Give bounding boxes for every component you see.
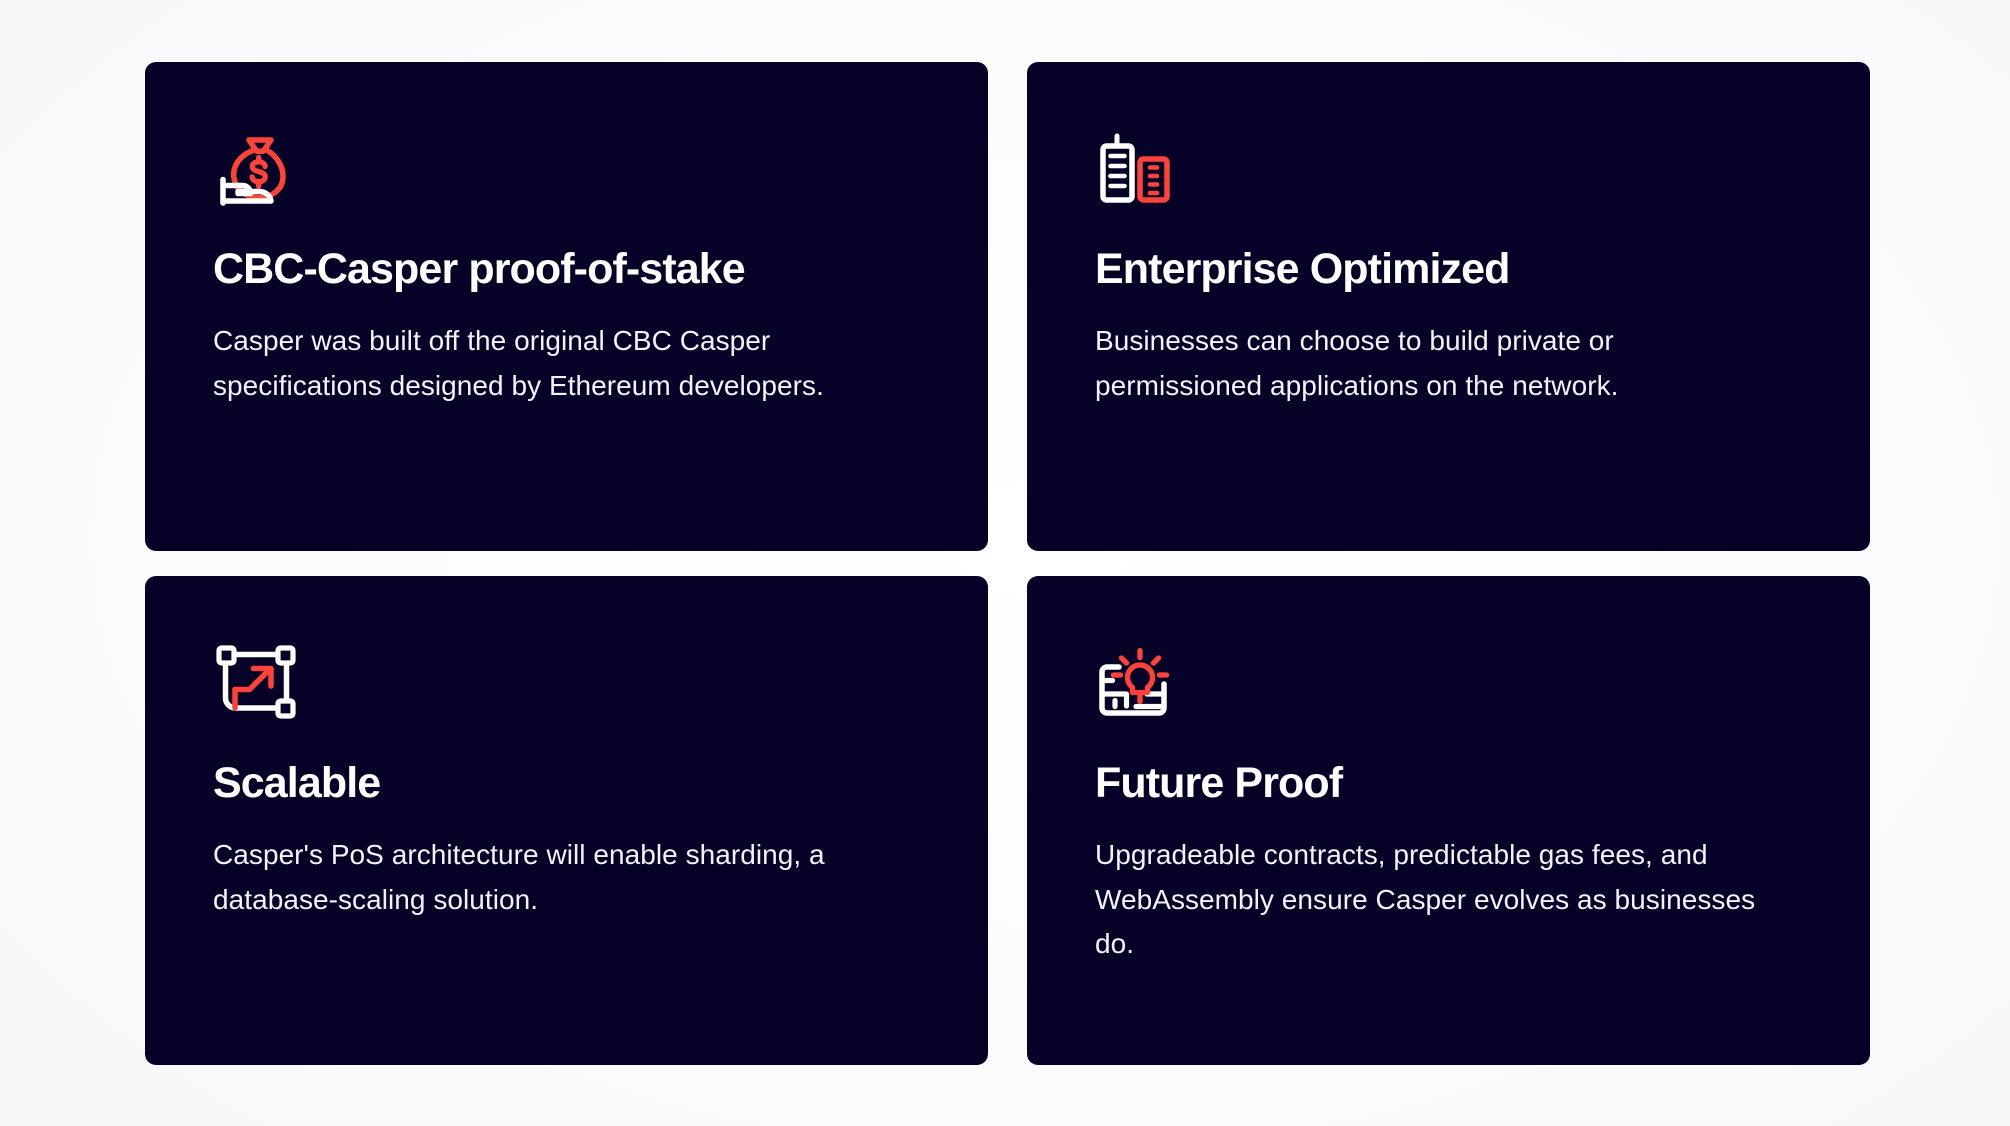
feature-card-cbc-casper[interactable]: CBC-Casper proof-of-stake Casper was bui… <box>145 62 988 551</box>
card-description: Casper's PoS architecture will enable sh… <box>213 833 893 921</box>
card-title: CBC-Casper proof-of-stake <box>213 245 920 294</box>
lightbulb-blueprint-icon <box>1095 642 1181 728</box>
card-description: Casper was built off the original CBC Ca… <box>213 319 893 407</box>
card-description: Businesses can choose to build private o… <box>1095 319 1775 407</box>
office-buildings-icon <box>1095 128 1181 214</box>
feature-card-future-proof[interactable]: Future Proof Upgradeable contracts, pred… <box>1027 576 1870 1065</box>
card-title: Scalable <box>213 759 920 808</box>
card-title: Enterprise Optimized <box>1095 245 1802 294</box>
money-bag-icon <box>213 128 299 214</box>
card-description: Upgradeable contracts, predictable gas f… <box>1095 833 1775 966</box>
card-title: Future Proof <box>1095 759 1802 808</box>
scale-resize-arrow-icon <box>213 642 299 728</box>
feature-card-scalable[interactable]: Scalable Casper's PoS architecture will … <box>145 576 988 1065</box>
feature-card-grid: CBC-Casper proof-of-stake Casper was bui… <box>145 62 1870 1065</box>
feature-section: CBC-Casper proof-of-stake Casper was bui… <box>0 0 2010 1126</box>
feature-card-enterprise-optimized[interactable]: Enterprise Optimized Businesses can choo… <box>1027 62 1870 551</box>
